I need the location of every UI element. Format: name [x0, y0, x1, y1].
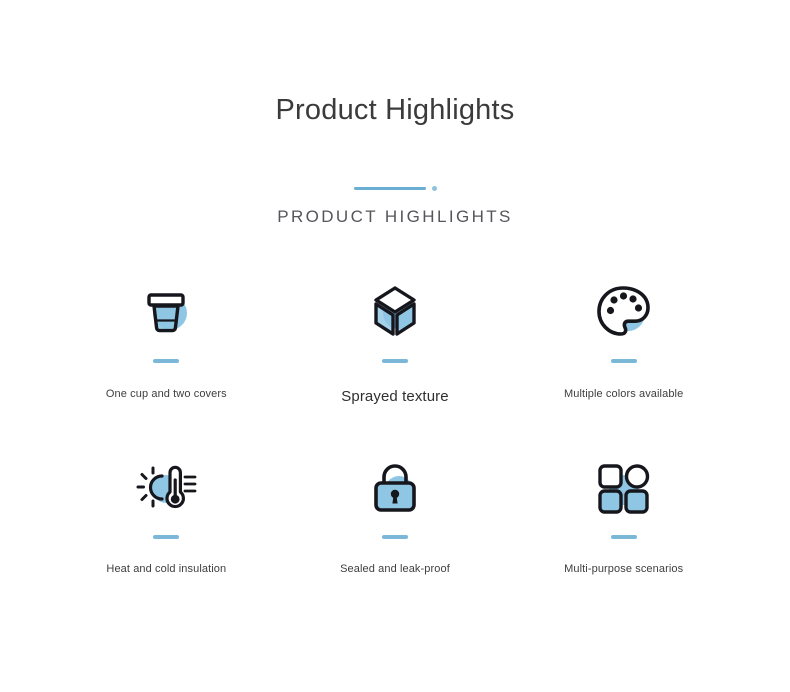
- product-highlights-page: Product Highlights PRODUCT HIGHLIGHTS On…: [0, 0, 790, 692]
- thermometer-sun-icon: [130, 453, 202, 523]
- feature-label: One cup and two covers: [106, 388, 227, 400]
- page-title: Product Highlights: [0, 93, 790, 128]
- feature-item-sprayed-texture: Sprayed texture: [281, 275, 510, 453]
- feature-item-multiple-colors: Multiple colors available: [509, 275, 738, 453]
- feature-rule: [153, 359, 179, 363]
- feature-rule: [382, 535, 408, 539]
- feature-label: Multi-purpose scenarios: [564, 563, 683, 575]
- grid-squares-circle-icon: [588, 453, 660, 523]
- page-header: Product Highlights PRODUCT HIGHLIGHTS: [0, 0, 790, 227]
- feature-rule: [153, 535, 179, 539]
- feature-label: Sealed and leak-proof: [340, 563, 450, 575]
- divider-line-icon: [354, 187, 426, 190]
- feature-rule: [382, 359, 408, 363]
- page-subtitle: PRODUCT HIGHLIGHTS: [0, 207, 790, 227]
- header-divider: [0, 184, 790, 194]
- feature-label: Sprayed texture: [341, 388, 448, 405]
- divider-dot-icon: [432, 186, 437, 191]
- cube-box-icon: [359, 275, 431, 347]
- feature-item-one-cup-two-covers: One cup and two covers: [52, 275, 281, 453]
- feature-item-sealed-leak-proof: Sealed and leak-proof: [281, 453, 510, 631]
- padlock-icon: [359, 453, 431, 523]
- feature-rule: [611, 359, 637, 363]
- feature-label: Multiple colors available: [564, 388, 683, 400]
- feature-item-heat-cold-insulation: Heat and cold insulation: [52, 453, 281, 631]
- feature-item-multi-purpose-scenarios: Multi-purpose scenarios: [509, 453, 738, 631]
- color-palette-icon: [588, 275, 660, 347]
- feature-grid: One cup and two covers Sprayed texture: [0, 275, 790, 631]
- coffee-cup-icon: [130, 275, 202, 347]
- feature-rule: [611, 535, 637, 539]
- feature-label: Heat and cold insulation: [106, 563, 226, 575]
